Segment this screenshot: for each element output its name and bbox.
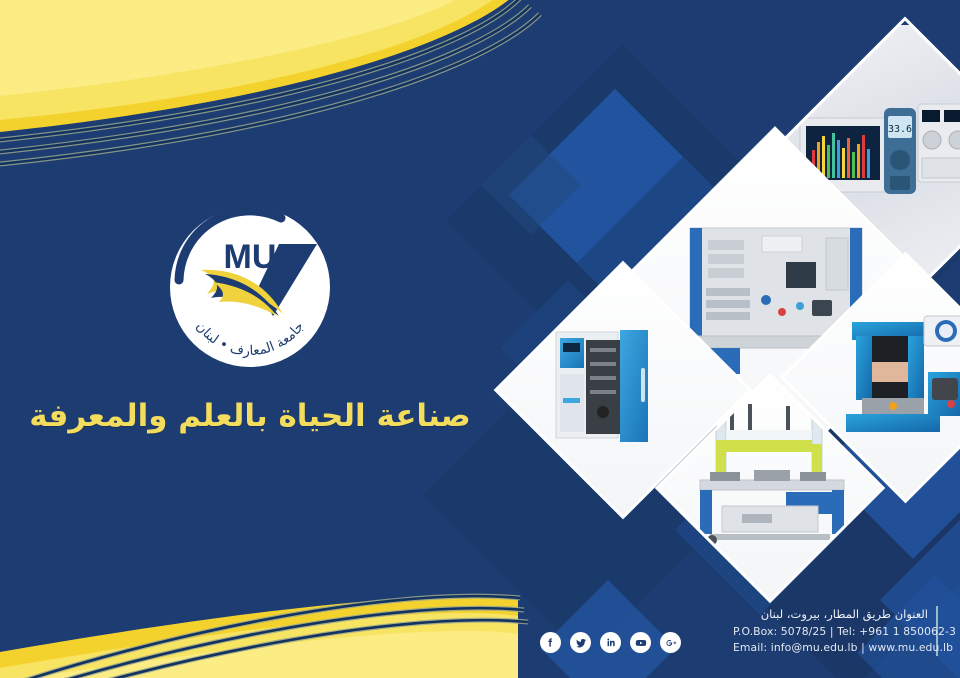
contact-address-ar: العنوان طريق المطار، بيروت، لبنان: [733, 606, 928, 623]
youtube-icon[interactable]: [630, 632, 651, 653]
social-links[interactable]: [540, 632, 681, 653]
svg-text:33.6: 33.6: [888, 124, 912, 135]
facebook-icon[interactable]: [540, 632, 561, 653]
tagline: صناعة الحياة بالعلم والمعرفة: [0, 398, 500, 434]
logo-initials: MU: [224, 238, 277, 276]
logo-mark: MU جامعة المعارف • لبنان: [161, 198, 339, 376]
linkedin-icon[interactable]: [600, 632, 621, 653]
contact-email-web: Email: info@mu.edu.lb | www.mu.edu.lb: [733, 640, 928, 656]
googleplus-icon[interactable]: [660, 632, 681, 653]
university-logo: MU جامعة المعارف • لبنان: [0, 198, 500, 376]
logo-emblem-icon: MU جامعة المعارف • لبنان: [161, 198, 339, 376]
contact-info: العنوان طريق المطار، بيروت، لبنان P.O.Bo…: [733, 606, 938, 656]
contact-pobox-tel: P.O.Box: 5078/25 | Tel: +961 1 850062-3: [733, 624, 928, 640]
brochure-cover: 33.6: [0, 0, 960, 678]
twitter-icon[interactable]: [570, 632, 591, 653]
